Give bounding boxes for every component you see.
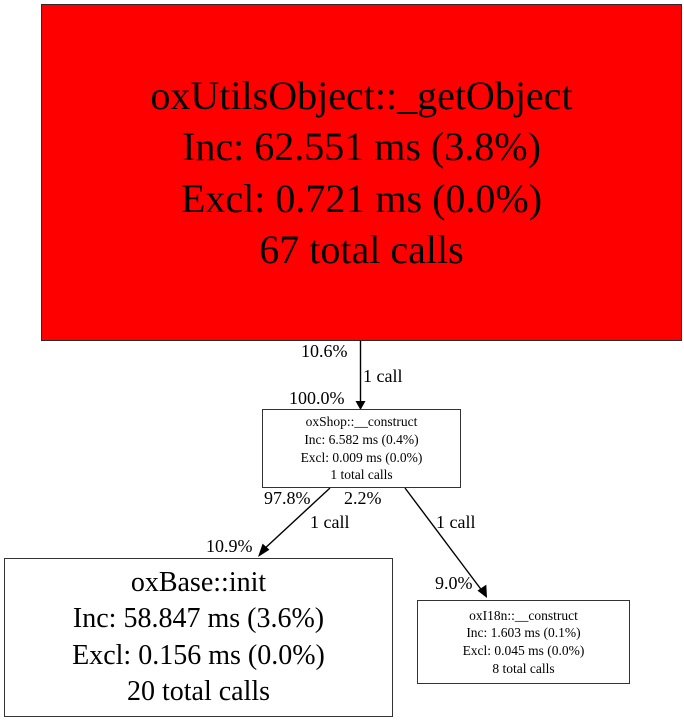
node-inclusive: Inc: 6.582 ms (0.4%) — [304, 431, 418, 449]
callgraph-canvas: oxUtilsObject::_getObject Inc: 62.551 ms… — [0, 0, 684, 725]
node-inclusive: Inc: 1.603 ms (0.1%) — [466, 624, 580, 642]
node-exclusive: Excl: 0.045 ms (0.0%) — [463, 642, 585, 660]
node-total-calls: 67 total calls — [259, 224, 463, 275]
edge-label-getobject-to-oxshop-calls: 1 call — [363, 367, 402, 385]
node-exclusive: Excl: 0.156 ms (0.0%) — [72, 638, 325, 674]
node-oxbase-init[interactable]: oxBase::init Inc: 58.847 ms (3.6%) Excl:… — [4, 558, 393, 717]
node-title: oxBase::init — [131, 565, 266, 601]
node-total-calls: 20 total calls — [127, 674, 270, 710]
node-title: oxUtilsObject::_getObject — [150, 70, 572, 121]
node-inclusive: Inc: 58.847 ms (3.6%) — [73, 601, 324, 637]
node-total-calls: 1 total calls — [330, 466, 392, 484]
edge-label-oxshop-to-oxi18n-head: 2.2% — [344, 489, 382, 507]
node-title: oxShop::__construct — [306, 413, 418, 431]
edge-label-getobject-to-oxshop-tail: 100.0% — [289, 389, 345, 407]
node-exclusive: Excl: 0.721 ms (0.0%) — [181, 173, 542, 224]
node-exclusive: Excl: 0.009 ms (0.0%) — [301, 449, 423, 467]
edge-label-oxshop-to-oxbaseinit-calls: 1 call — [310, 513, 349, 531]
node-oxutilsobject-getobject[interactable]: oxUtilsObject::_getObject Inc: 62.551 ms… — [41, 4, 682, 341]
node-total-calls: 8 total calls — [492, 660, 554, 678]
edge-label-oxshop-to-oxbaseinit-tail: 10.9% — [206, 537, 253, 555]
node-oxshop-construct[interactable]: oxShop::__construct Inc: 6.582 ms (0.4%)… — [262, 409, 461, 488]
edge-label-oxshop-to-oxi18n-tail: 9.0% — [435, 574, 473, 592]
edge-label-oxshop-to-oxi18n-calls: 1 call — [436, 513, 475, 531]
edge-label-getobject-to-oxshop-head: 10.6% — [301, 342, 348, 360]
node-title: oxI18n::__construct — [469, 607, 578, 625]
node-inclusive: Inc: 62.551 ms (3.8%) — [182, 121, 541, 172]
node-oxi18n-construct[interactable]: oxI18n::__construct Inc: 1.603 ms (0.1%)… — [417, 600, 630, 684]
edge-label-oxshop-to-oxbaseinit-head: 97.8% — [264, 489, 311, 507]
